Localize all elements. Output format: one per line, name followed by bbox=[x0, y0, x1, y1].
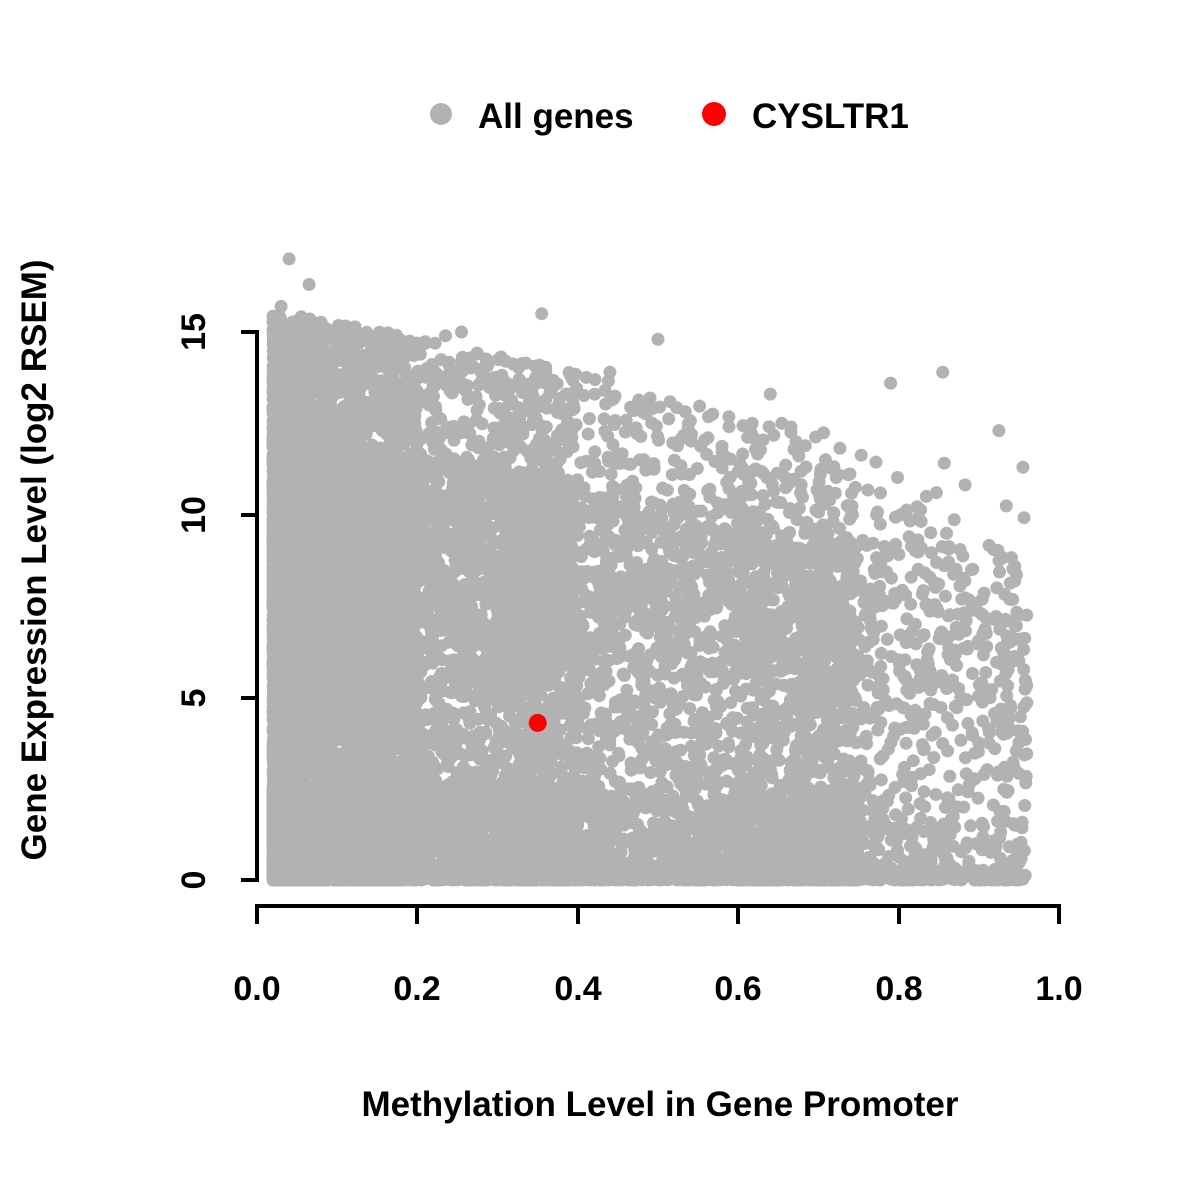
x-tick-label-1.0: 1.0 bbox=[1035, 970, 1082, 1008]
x-tick-label-0.0: 0.0 bbox=[233, 970, 280, 1008]
x-axis-title: Methylation Level in Gene Promoter bbox=[361, 1085, 958, 1124]
cysltr1-point bbox=[529, 714, 547, 732]
y-tick-label-10: 10 bbox=[175, 496, 213, 534]
scatter-point-cysltr1 bbox=[529, 714, 547, 732]
plot-canvas: 15 10 5 0 0.0 0.2 0.4 0.6 0.8 1.0 Methyl… bbox=[0, 0, 1200, 1200]
x-tick-label-0.6: 0.6 bbox=[714, 970, 761, 1008]
legend-marker-all-genes bbox=[430, 103, 452, 125]
legend-marker-cysltr1 bbox=[702, 102, 726, 126]
legend-label-all-genes: All genes bbox=[478, 97, 634, 136]
x-tick-label-0.4: 0.4 bbox=[554, 970, 601, 1008]
x-tick-label-0.8: 0.8 bbox=[875, 970, 922, 1008]
x-tick-label-0.2: 0.2 bbox=[393, 970, 440, 1008]
y-tick-label-0: 0 bbox=[175, 871, 213, 890]
y-tick-label-15: 15 bbox=[175, 313, 213, 351]
legend-label-cysltr1: CYSLTR1 bbox=[752, 97, 909, 136]
y-tick-label-5: 5 bbox=[175, 689, 213, 708]
y-axis-title: Gene Expression Level (log2 RSEM) bbox=[15, 260, 54, 861]
scatter-plot-figure: 15 10 5 0 0.0 0.2 0.4 0.6 0.8 1.0 Methyl… bbox=[0, 0, 1200, 1200]
